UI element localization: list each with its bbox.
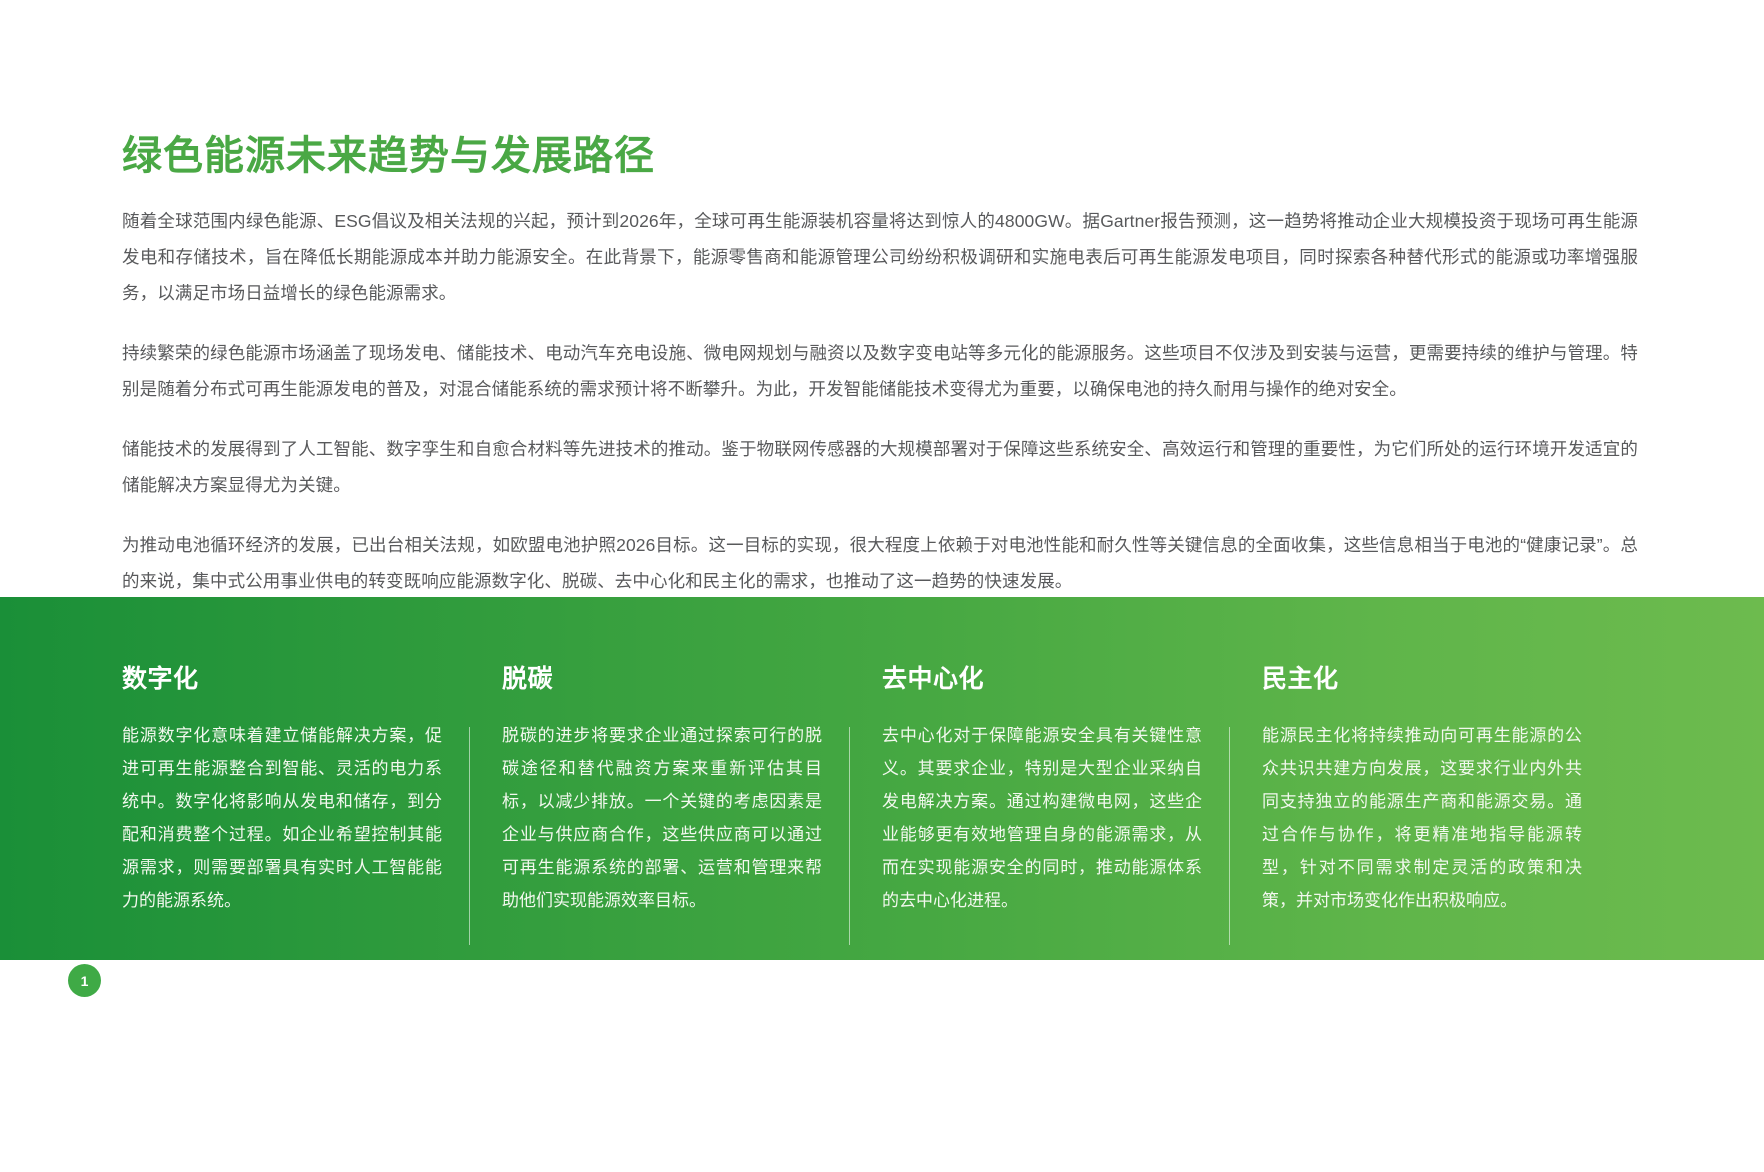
intro-paragraph-2: 持续繁荣的绿色能源市场涵盖了现场发电、储能技术、电动汽车充电设施、微电网规划与融… <box>122 335 1638 407</box>
pillar-body: 去中心化对于保障能源安全具有关键性意义。其要求企业，特别是大型企业采纳自发电解决… <box>882 719 1202 917</box>
column-divider <box>1229 727 1230 945</box>
pillar-heading: 去中心化 <box>882 659 1202 695</box>
pillar-body: 能源数字化意味着建立储能解决方案，促进可再生能源整合到智能、灵活的电力系统中。数… <box>122 719 442 917</box>
pillar-heading: 数字化 <box>122 659 442 695</box>
pillars-band: 数字化 能源数字化意味着建立储能解决方案，促进可再生能源整合到智能、灵活的电力系… <box>0 597 1764 960</box>
pillars-columns: 数字化 能源数字化意味着建立储能解决方案，促进可再生能源整合到智能、灵活的电力系… <box>122 659 1642 917</box>
intro-paragraph-4: 为推动电池循环经济的发展，已出台相关法规，如欧盟电池护照2026目标。这一目标的… <box>122 527 1638 599</box>
pillar-column-decentralization: 去中心化 去中心化对于保障能源安全具有关键性意义。其要求企业，特别是大型企业采纳… <box>882 659 1262 917</box>
pillar-column-democratization: 民主化 能源民主化将持续推动向可再生能源的公众共识共建方向发展，这要求行业内外共… <box>1262 659 1642 917</box>
document-page: 绿色能源未来趋势与发展路径 随着全球范围内绿色能源、ESG倡议及相关法规的兴起，… <box>0 0 1764 1172</box>
column-divider <box>849 727 850 945</box>
intro-body: 随着全球范围内绿色能源、ESG倡议及相关法规的兴起，预计到2026年，全球可再生… <box>122 203 1638 599</box>
pillar-body: 能源民主化将持续推动向可再生能源的公众共识共建方向发展，这要求行业内外共同支持独… <box>1262 719 1582 917</box>
pillar-column-digitalization: 数字化 能源数字化意味着建立储能解决方案，促进可再生能源整合到智能、灵活的电力系… <box>122 659 502 917</box>
page-title: 绿色能源未来趋势与发展路径 <box>122 123 655 181</box>
intro-paragraph-1: 随着全球范围内绿色能源、ESG倡议及相关法规的兴起，预计到2026年，全球可再生… <box>122 203 1638 311</box>
column-divider <box>469 727 470 945</box>
pillar-column-decarbonization: 脱碳 脱碳的进步将要求企业通过探索可行的脱碳途径和替代融资方案来重新评估其目标，… <box>502 659 882 917</box>
pillar-body: 脱碳的进步将要求企业通过探索可行的脱碳途径和替代融资方案来重新评估其目标，以减少… <box>502 719 822 917</box>
pillar-heading: 民主化 <box>1262 659 1582 695</box>
page-number-badge: 1 <box>68 964 101 997</box>
pillar-heading: 脱碳 <box>502 659 822 695</box>
intro-paragraph-3: 储能技术的发展得到了人工智能、数字孪生和自愈合材料等先进技术的推动。鉴于物联网传… <box>122 431 1638 503</box>
